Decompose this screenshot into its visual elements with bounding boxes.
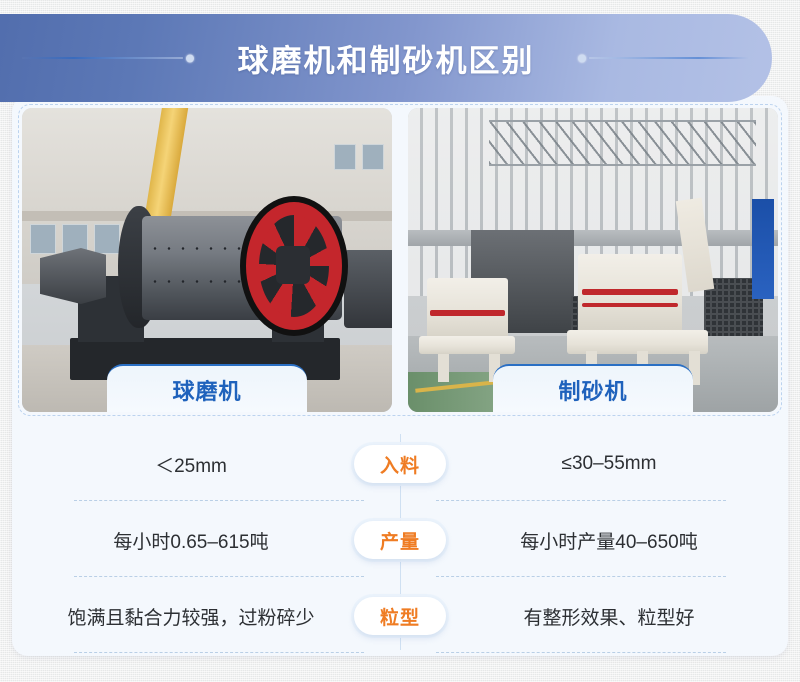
decoration-line <box>589 57 750 59</box>
window-group-right <box>334 144 384 170</box>
window <box>94 224 120 254</box>
comparison-table: ＜25mm ≤30–55mm 入料 每小时0.65–615吨 每小时产量40–6… <box>12 426 788 656</box>
blue-wall-banner <box>752 199 774 299</box>
vsi-machine-front <box>578 254 682 333</box>
vsi-leg <box>438 354 449 382</box>
comparison-row-feed: ＜25mm ≤30–55mm 入料 <box>12 426 788 502</box>
ceiling-beam <box>408 230 778 246</box>
page-header-banner: 球磨机和制砂机区别 <box>0 14 772 102</box>
sand-machine-photo: 制砂机 <box>408 108 778 412</box>
feed-value-ball-mill: ＜25mm <box>12 451 400 478</box>
feed-value-sand-machine: ≤30–55mm <box>400 453 788 475</box>
mill-discharge-end <box>344 250 392 328</box>
comparison-row-capacity: 每小时0.65–615吨 每小时产量40–650吨 产量 <box>12 502 788 578</box>
capacity-value-ball-mill: 每小时0.65–615吨 <box>12 527 400 554</box>
roof-truss <box>489 120 755 166</box>
row-label-text: 粒型 <box>380 603 420 630</box>
window <box>30 224 56 254</box>
row-separator <box>74 652 364 654</box>
row-label-feed: 入料 <box>354 445 446 483</box>
sand-machine-name: 制砂机 <box>558 374 627 406</box>
ball-mill-nameplate: 球磨机 <box>107 364 307 412</box>
vsi-base-rear <box>419 336 515 354</box>
photo-row: 球磨机 <box>22 108 778 412</box>
row-label-capacity: 产量 <box>354 521 446 559</box>
window <box>334 144 356 170</box>
window-group-left <box>30 224 120 254</box>
grain-shape-value-ball-mill: 饱满且黏合力较强，过粉碎少 <box>12 603 400 630</box>
ball-mill-photo: 球磨机 <box>22 108 392 412</box>
header-right-decoration <box>578 54 750 63</box>
vsi-red-stripe <box>430 310 505 316</box>
window <box>362 144 384 170</box>
ball-mill-name: 球磨机 <box>172 374 241 406</box>
mill-gear-hub <box>276 246 310 284</box>
content-panel: 球磨机 <box>12 96 788 656</box>
row-label-text: 入料 <box>380 451 420 478</box>
row-label-grain-shape: 粒型 <box>354 597 446 635</box>
vsi-red-stripe <box>582 303 677 307</box>
capacity-value-sand-machine: 每小时产量40–650吨 <box>400 527 788 554</box>
vsi-red-stripe <box>582 289 677 295</box>
row-label-text: 产量 <box>380 527 420 554</box>
decoration-dot-icon <box>578 54 586 62</box>
vsi-machine-rear <box>427 278 508 339</box>
mill-feed-cone <box>40 248 106 304</box>
comparison-row-grain-shape: 饱满且黏合力较强，过粉碎少 有整形效果、粒型好 粒型 <box>12 578 788 654</box>
grain-shape-value-sand-machine: 有整形效果、粒型好 <box>400 603 788 630</box>
row-separator <box>436 652 726 654</box>
sand-machine-nameplate: 制砂机 <box>493 364 693 412</box>
